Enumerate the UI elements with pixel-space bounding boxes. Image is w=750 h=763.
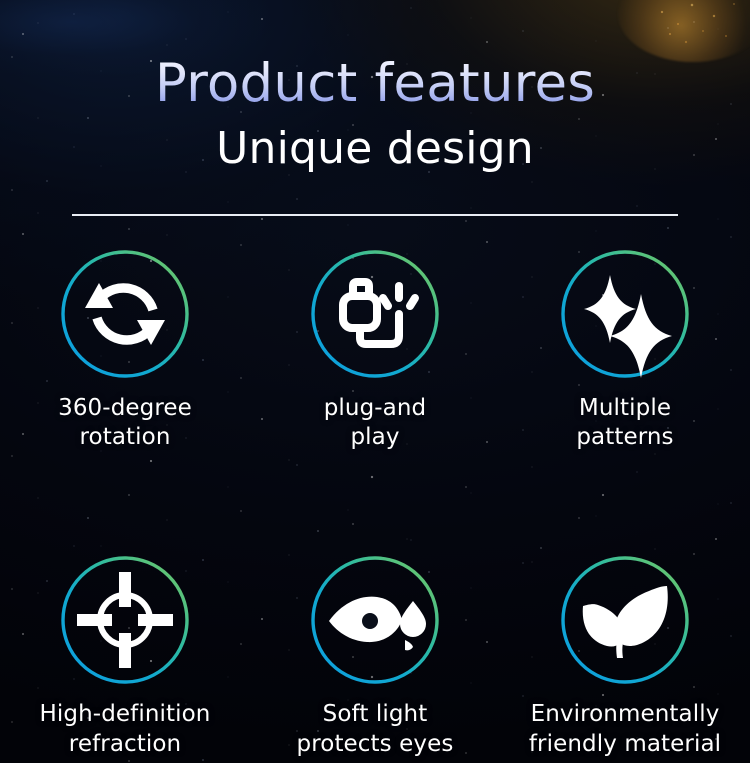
usb-plug-icon: [309, 248, 441, 380]
feature-item-multiple-patterns[interactable]: Multiple patterns: [500, 248, 750, 452]
feature-label: 360-degree rotation: [58, 394, 192, 452]
feature-icon-ring: [59, 248, 191, 380]
feature-label: Soft light protects eyes: [253, 700, 497, 758]
page-subtitle: Unique design: [0, 127, 750, 171]
feature-label: plug-and play: [324, 394, 427, 452]
feature-grid: 360-degree rotation: [0, 248, 750, 759]
sparkles-icon: [559, 248, 691, 380]
crosshair-target-icon: [59, 554, 191, 686]
feature-icon-ring: [309, 554, 441, 686]
header-divider: [72, 214, 678, 216]
feature-icon-ring: [59, 554, 191, 686]
product-features-page: Product features Unique design: [0, 0, 750, 763]
sprout-leaves-icon: [559, 554, 691, 686]
feature-icon-ring: [309, 248, 441, 380]
feature-item-hd-refraction[interactable]: High-definition refraction: [0, 554, 250, 758]
feature-item-rotation[interactable]: 360-degree rotation: [0, 248, 250, 452]
feature-item-eco-material[interactable]: Environmentally friendly material: [500, 554, 750, 758]
feature-label: High-definition refraction: [3, 700, 247, 758]
feature-item-plug-and-play[interactable]: plug-and play: [250, 248, 500, 452]
feature-item-soft-light[interactable]: Soft light protects eyes: [250, 554, 500, 758]
feature-row-2: High-definition refraction Soft light p: [0, 554, 750, 758]
eye-teardrop-icon: [309, 554, 441, 686]
feature-icon-ring: [559, 554, 691, 686]
feature-row-1: 360-degree rotation: [0, 248, 750, 452]
feature-icon-ring: [559, 248, 691, 380]
page-title: Product features: [0, 57, 750, 110]
rotation-arrows-icon: [59, 248, 191, 380]
feature-label: Environmentally friendly material: [503, 700, 747, 758]
feature-label: Multiple patterns: [576, 394, 673, 452]
